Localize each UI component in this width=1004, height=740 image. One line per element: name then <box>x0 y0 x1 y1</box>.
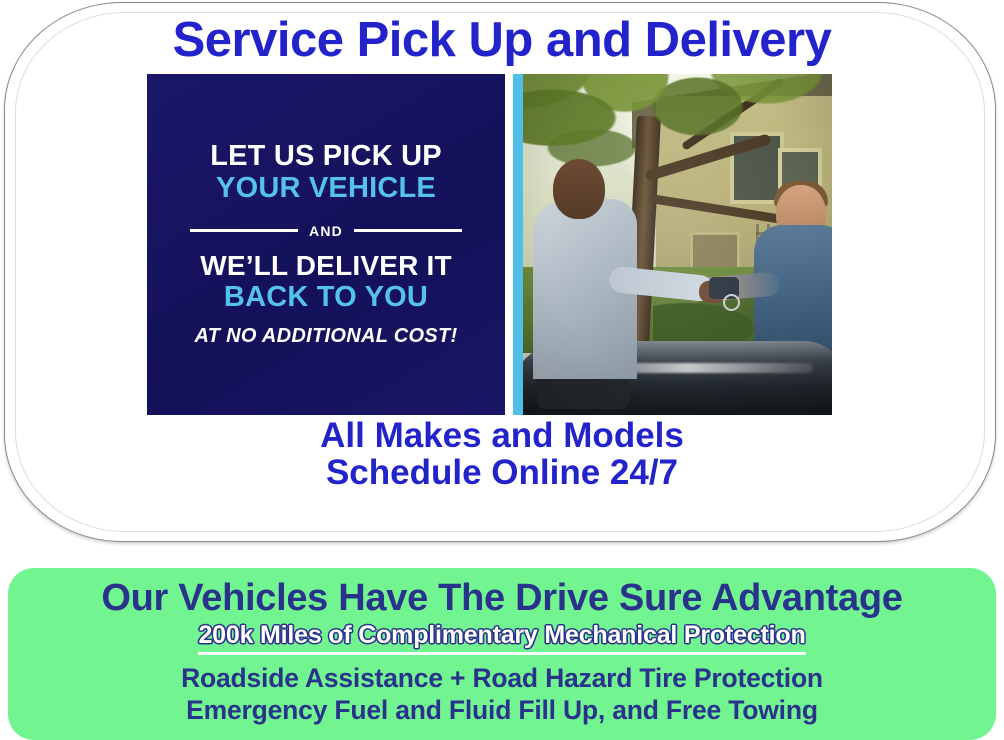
creative-accent-stripe <box>513 74 523 415</box>
divider-rule-right <box>354 229 462 232</box>
creative-line-2: YOUR VEHICLE <box>216 173 436 204</box>
subheadline-line-1: All Makes and Models <box>0 417 1004 454</box>
creative-line-5: AT NO ADDITIONAL COST! <box>195 326 458 348</box>
page-title: Service Pick Up and Delivery <box>0 16 1004 65</box>
creative-line-1: LET US PICK UP <box>210 141 442 172</box>
divider-label: AND <box>298 223 354 239</box>
creative-line-3: WE’LL DELIVER IT <box>200 251 452 281</box>
advantage-benefit-line-2: Emergency Fuel and Fluid Fill Up, and Fr… <box>8 694 996 726</box>
creative-message-panel: LET US PICK UP YOUR VEHICLE AND WE’LL DE… <box>147 74 505 415</box>
subheadline-line-2: Schedule Online 24/7 <box>0 454 1004 491</box>
advantage-benefit-line-1: Roadside Assistance + Road Hazard Tire P… <box>8 662 996 694</box>
creative-gap <box>505 74 513 415</box>
divider-rule-left <box>190 229 298 232</box>
advantage-title: Our Vehicles Have The Drive Sure Advanta… <box>8 578 996 619</box>
creative-line-4: BACK TO YOU <box>224 282 428 313</box>
key-handoff-photo <box>523 74 832 415</box>
advantage-feature-highlight: 200k Miles of Complimentary Mechanical P… <box>198 621 805 655</box>
creative-divider: AND <box>190 223 462 239</box>
photo-vignette <box>523 74 832 415</box>
promo-subheadline: All Makes and Models Schedule Online 24/… <box>0 417 1004 492</box>
advantage-banner: Our Vehicles Have The Drive Sure Advanta… <box>8 568 996 740</box>
promo-creative: LET US PICK UP YOUR VEHICLE AND WE’LL DE… <box>147 74 832 415</box>
